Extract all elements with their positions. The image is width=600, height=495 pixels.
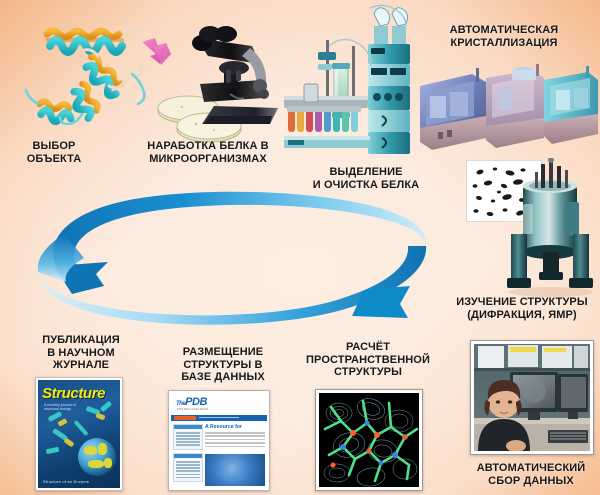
stage-label-structure-study: ИЗУЧЕНИЕ СТРУКТУРЫ (ДИФРАКЦИЯ, ЯМР) bbox=[444, 296, 600, 321]
pdb-sidebar-box bbox=[173, 424, 203, 450]
cycle-arrow bbox=[8, 186, 428, 336]
pdb-structure-thumbnail bbox=[205, 454, 265, 486]
nmr-spectrometer bbox=[505, 158, 600, 298]
stage-label-database-deposition: РАЗМЕЩЕНИЕ СТРУКТУРЫ В БАЗЕ ДАННЫХ bbox=[162, 346, 284, 384]
pdb-headline: A Resource for bbox=[205, 424, 265, 430]
journal-cover-photo: Structure A monthly journal of structura… bbox=[35, 377, 123, 491]
pdb-header: ThePDB PROTEIN DATA BANK bbox=[171, 393, 267, 416]
stage-label-protein-expression: НАРАБОТКА БЕЛКА В МИКРООРГАНИЗМАХ bbox=[123, 140, 293, 165]
stage-label-crystallization: АВТОМАТИЧЕСКАЯ КРИСТАЛЛИЗАЦИЯ bbox=[414, 24, 594, 49]
globe-graphic bbox=[78, 438, 116, 476]
pdb-nav-bar[interactable] bbox=[171, 415, 267, 421]
microscope-and-petri-dishes bbox=[152, 12, 302, 144]
pdb-logo: ThePDB bbox=[176, 396, 207, 408]
stage-label-purification: ВЫДЕЛЕНИЕ И ОЧИСТКА БЕЛКА bbox=[296, 166, 436, 191]
researcher-at-workstation-photo bbox=[470, 340, 594, 455]
stage-label-target-selection: ВЫБОР ОБЪЕКТА bbox=[4, 140, 104, 165]
pdb-sidebar bbox=[173, 424, 203, 486]
fplc-chromatography-system bbox=[282, 0, 410, 160]
pdb-website-screenshot: ThePDB PROTEIN DATA BANK A Resource for bbox=[168, 390, 270, 491]
stage-label-structure-calculation: РАСЧЁТ ПРОСТРАНСТВЕННОЙ СТРУКТУРЫ bbox=[296, 341, 440, 379]
infographic-canvas: ThePDB PROTEIN DATA BANK A Resource for bbox=[0, 0, 600, 495]
electron-density-map-photo bbox=[315, 389, 423, 491]
crystallization-robot bbox=[416, 58, 600, 152]
pdb-sidebar-box bbox=[173, 453, 203, 482]
stage-label-publication: ПУБЛИКАЦИЯ В НАУЧНОМ ЖУРНАЛЕ bbox=[20, 334, 142, 372]
stage-label-data-collection: АВТОМАТИЧЕСКИЙ СБОР ДАННЫХ bbox=[462, 462, 600, 487]
journal-title: Structure bbox=[42, 385, 117, 402]
pdb-tagline: PROTEIN DATA BANK bbox=[177, 408, 209, 411]
journal-footer: Structure of an Enzyme bbox=[43, 479, 89, 484]
